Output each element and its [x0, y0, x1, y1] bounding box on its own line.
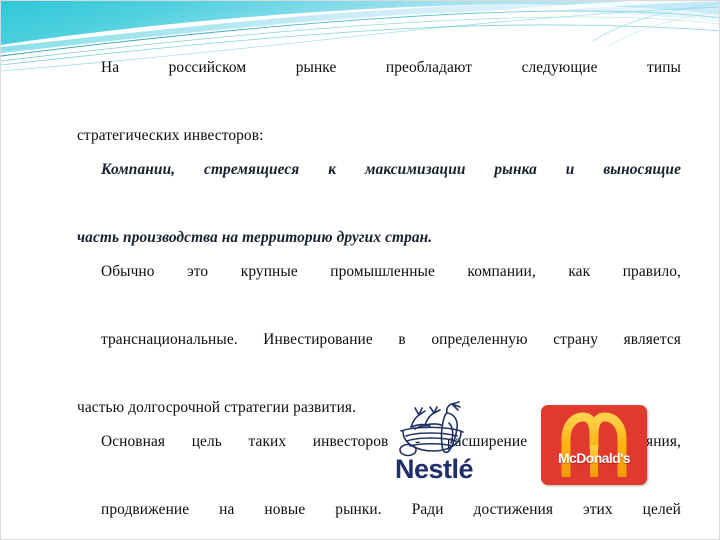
bird-nest-icon: [385, 401, 483, 457]
golden-arches-icon: [541, 405, 647, 485]
paragraph-3-line-1: Обычно это крупные промышленные компании…: [77, 255, 681, 323]
paragraph-4-line-2: продвижение на новые рынки. Ради достиже…: [77, 493, 681, 540]
mcdonalds-wordmark: McDonald's: [541, 450, 647, 466]
paragraph-2-line-2: часть производства на территорию других …: [77, 229, 432, 246]
paragraph-2: Компании, стремящиеся к максимизации рын…: [77, 153, 681, 255]
slide-canvas: На российском рынке преобладают следующи…: [0, 0, 720, 540]
paragraph-2-line-1: Компании, стремящиеся к максимизации рын…: [77, 153, 681, 221]
paragraph-1-line-2: стратегических инвесторов:: [77, 127, 263, 144]
nestle-wordmark: Nestlé: [379, 453, 489, 485]
paragraph-3-line-2: транснациональные. Инвестирование в опре…: [77, 323, 681, 391]
paragraph-1: На российском рынке преобладают следующи…: [77, 51, 681, 153]
nestle-logo: Nestlé: [379, 401, 489, 489]
logo-row: Nestlé: [1, 399, 720, 494]
paragraph-1-line-1: На российском рынке преобладают следующи…: [77, 51, 681, 119]
mcdonalds-logo: McDonald's: [541, 405, 647, 485]
